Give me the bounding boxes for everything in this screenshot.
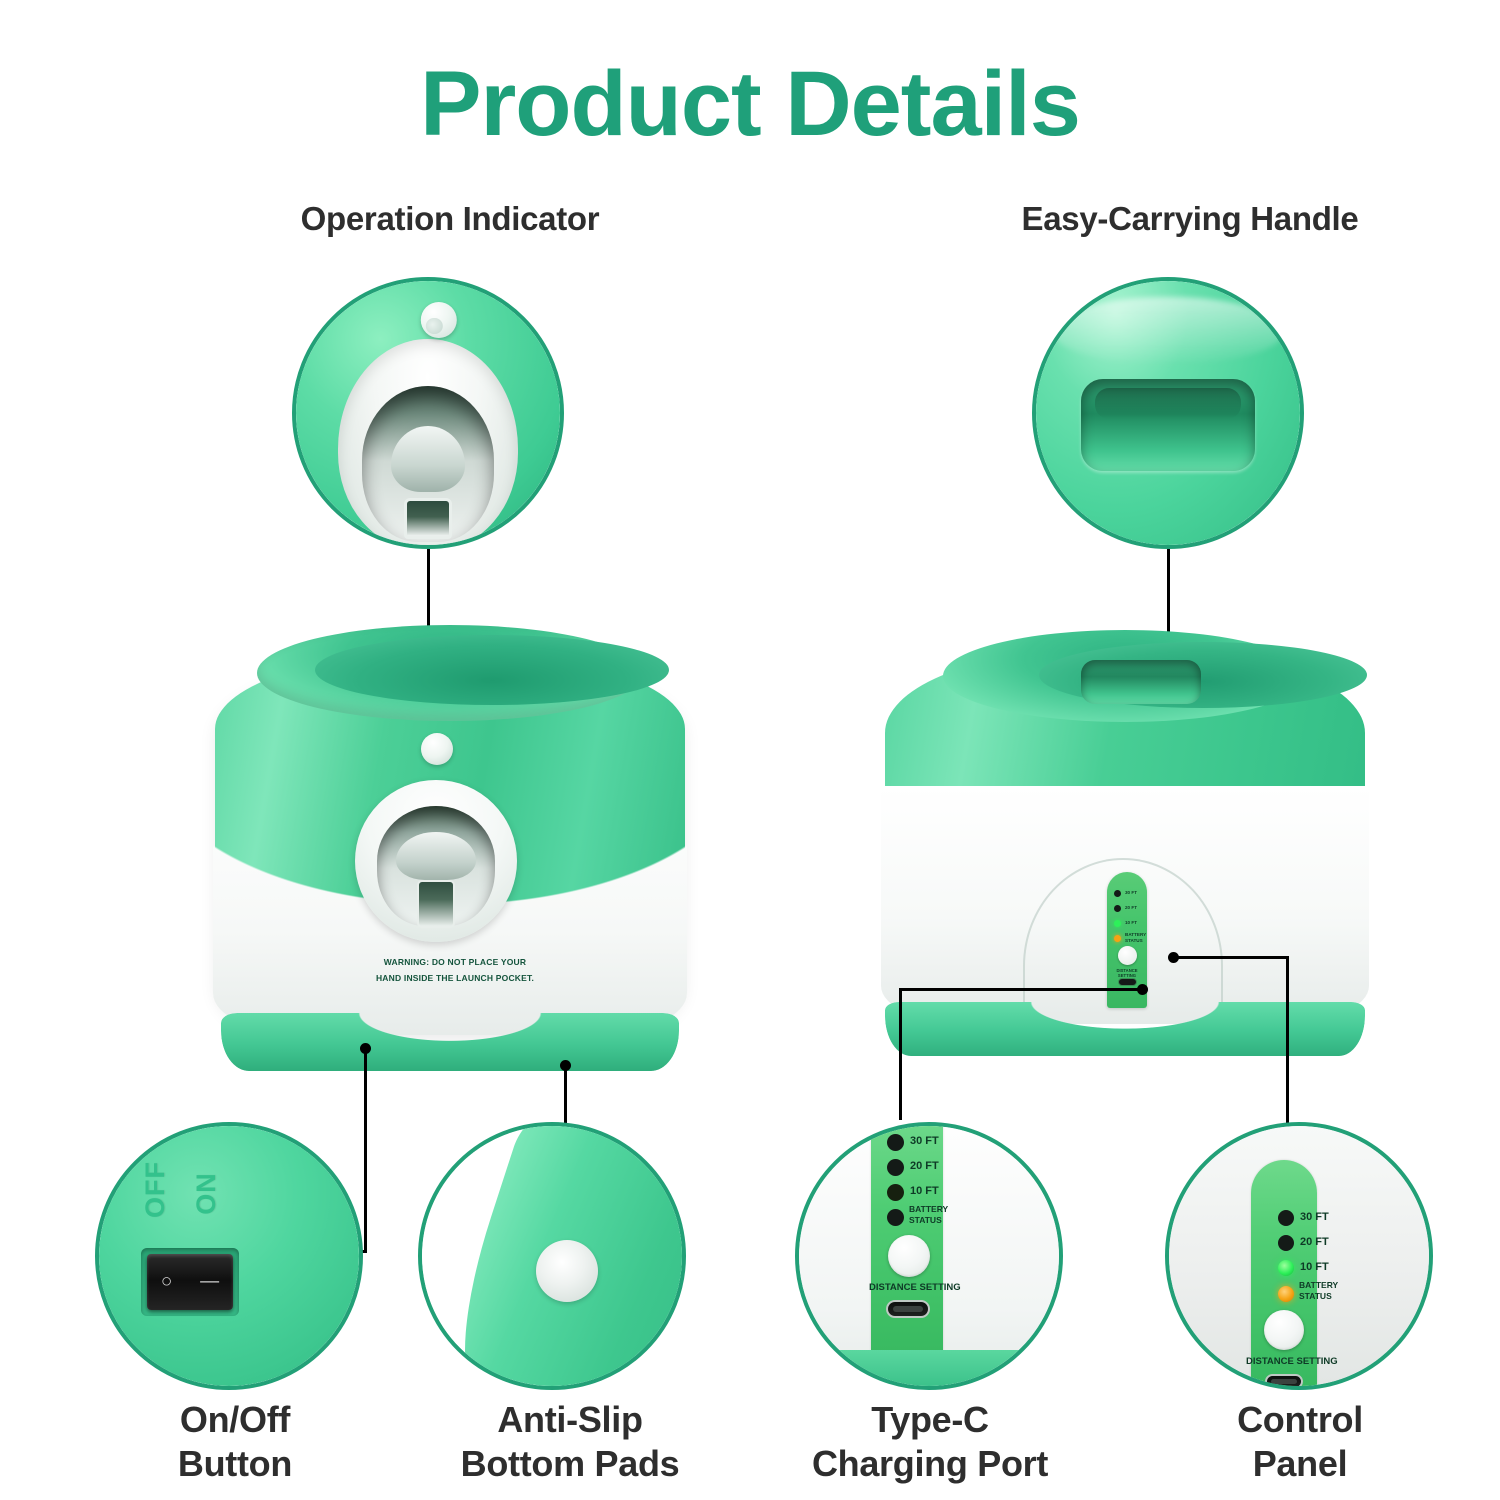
callout-antislip-pads — [418, 1122, 686, 1390]
leader-line-typec-horizontal — [899, 988, 1142, 991]
product-details-infographic: Product Details Operation Indicator Easy… — [0, 0, 1500, 1500]
launch-port-collar — [355, 780, 517, 942]
distance-setting-label: DISTANCE SETTING — [1246, 1356, 1338, 1367]
operation-indicator-sensor — [421, 733, 453, 765]
control-panel-strip: 30 FT 20 FT 10 FT BATTERY STATUS DISTANC… — [871, 1122, 943, 1366]
caption-line-2: Bottom Pads — [390, 1442, 750, 1486]
led-20ft — [1114, 905, 1121, 912]
launch-port-opening — [377, 806, 495, 926]
distance-setting-button[interactable] — [888, 1235, 930, 1277]
callout-onoff-button: OFF ON ○ — — [95, 1122, 363, 1390]
launch-chute — [417, 880, 455, 928]
launch-roller — [391, 426, 465, 492]
callout-control-panel: 30 FT 20 FT 10 FT BATTERY STATUS DISTANC… — [1165, 1122, 1433, 1390]
led-label-30ft: 30 FT — [910, 1135, 939, 1147]
caption-line-1: Anti-Slip — [390, 1398, 750, 1442]
callout-operation-indicator — [292, 277, 564, 549]
led-label-battery-line2: STATUS — [909, 1215, 942, 1225]
leader-line-antislip-pads — [564, 1065, 567, 1127]
operation-indicator-sensor-icon — [421, 302, 457, 338]
switch-label-off: OFF — [140, 1161, 171, 1218]
gloss-highlight — [1052, 297, 1284, 366]
led-label-10ft: 10 FT — [1125, 920, 1137, 925]
led-10ft — [1278, 1260, 1294, 1276]
led-label-20ft: 20 FT — [1300, 1236, 1329, 1248]
usb-c-port[interactable] — [1118, 978, 1137, 986]
led-30ft — [1278, 1210, 1294, 1226]
callout-carrying-handle — [1032, 277, 1304, 549]
rocker-off-symbol: ○ — [161, 1271, 172, 1293]
handle-grip-recess — [1081, 379, 1255, 471]
led-label-battery-line2: STATUS — [1125, 938, 1143, 943]
led-label-battery-line1: BATTERY — [1125, 932, 1146, 937]
caption-line-2: Button — [55, 1442, 415, 1486]
led-20ft — [887, 1159, 904, 1176]
distance-setting-label: DISTANCE SETTING — [1108, 968, 1146, 978]
led-battery-status — [1278, 1286, 1294, 1302]
power-rocker-switch[interactable]: ○ — — [147, 1254, 233, 1310]
switch-recess: ○ — — [141, 1248, 239, 1316]
usb-c-port[interactable] — [886, 1300, 930, 1318]
usb-c-port[interactable] — [1265, 1374, 1303, 1389]
led-label-10ft: 10 FT — [910, 1185, 939, 1197]
distance-setting-button[interactable] — [1118, 946, 1137, 965]
led-label-battery-line2: STATUS — [1299, 1291, 1332, 1301]
rocker-on-symbol: — — [200, 1271, 219, 1293]
led-label-20ft: 20 FT — [1125, 905, 1137, 910]
launch-pocket-collar — [338, 339, 518, 549]
led-30ft — [887, 1134, 904, 1151]
caption-line-1: Control — [1120, 1398, 1480, 1442]
led-label-30ft: 30 FT — [1300, 1211, 1329, 1223]
led-battery-status — [887, 1209, 904, 1226]
led-10ft — [1114, 920, 1121, 927]
warning-line-2: HAND INSIDE THE LAUNCH POCKET. — [330, 971, 580, 987]
distance-setting-button[interactable] — [1264, 1310, 1304, 1350]
caption-onoff-button: On/Off Button — [55, 1398, 415, 1486]
warning-label: WARNING: DO NOT PLACE YOUR HAND INSIDE T… — [330, 955, 580, 986]
launch-pocket-opening — [362, 386, 495, 542]
leader-line-control-vertical — [1286, 956, 1289, 1126]
led-label-battery-line1: BATTERY — [909, 1204, 948, 1214]
caption-line-2: Charging Port — [730, 1442, 1130, 1486]
page-title: Product Details — [0, 52, 1500, 157]
led-label-20ft: 20 FT — [910, 1160, 939, 1172]
carrying-handle — [1081, 660, 1201, 704]
caption-line-1: On/Off — [55, 1398, 415, 1442]
product-top-rim — [257, 625, 643, 721]
led-20ft — [1278, 1235, 1294, 1251]
distance-setting-label: DISTANCE SETTING — [869, 1282, 961, 1293]
leader-line-control-horizontal — [1172, 956, 1289, 959]
product-image-front-view: WARNING: DO NOT PLACE YOUR HAND INSIDE T… — [215, 625, 685, 1065]
caption-antislip-pads: Anti-Slip Bottom Pads — [390, 1398, 750, 1486]
switch-label-on: ON — [191, 1172, 222, 1215]
caption-line-2: Panel — [1120, 1442, 1480, 1486]
led-battery-status — [1114, 935, 1121, 942]
caption-easy-carrying-handle: Easy-Carrying Handle — [900, 200, 1480, 238]
product-base-foot — [221, 1013, 679, 1071]
warning-line-1: WARNING: DO NOT PLACE YOUR — [330, 955, 580, 971]
led-30ft — [1114, 890, 1121, 897]
launch-roller — [396, 832, 476, 880]
product-base-foot — [799, 1350, 1063, 1386]
product-base-foot — [885, 1002, 1365, 1056]
caption-operation-indicator: Operation Indicator — [180, 200, 720, 238]
caption-typec-charging-port: Type-C Charging Port — [730, 1398, 1130, 1486]
leader-line-typec-vertical — [899, 988, 902, 1120]
led-label-battery-line1: BATTERY — [1299, 1280, 1338, 1290]
led-label-30ft: 30 FT — [1125, 890, 1137, 895]
launch-chute — [404, 498, 452, 539]
led-label-10ft: 10 FT — [1300, 1261, 1329, 1273]
caption-line-1: Type-C — [730, 1398, 1130, 1442]
product-image-rear-view: 30 FT 20 FT 10 FT BATTERY STATUS DISTANC… — [865, 630, 1385, 1060]
control-panel-strip: 30 FT 20 FT 10 FT BATTERY STATUS DISTANC… — [1251, 1160, 1317, 1390]
caption-control-panel: Control Panel — [1120, 1398, 1480, 1486]
leader-line-onoff-vertical — [364, 1048, 367, 1253]
product-bowl-interior — [315, 635, 669, 705]
callout-typec-charging-port: 30 FT 20 FT 10 FT BATTERY STATUS DISTANC… — [795, 1122, 1063, 1390]
led-10ft — [887, 1184, 904, 1201]
